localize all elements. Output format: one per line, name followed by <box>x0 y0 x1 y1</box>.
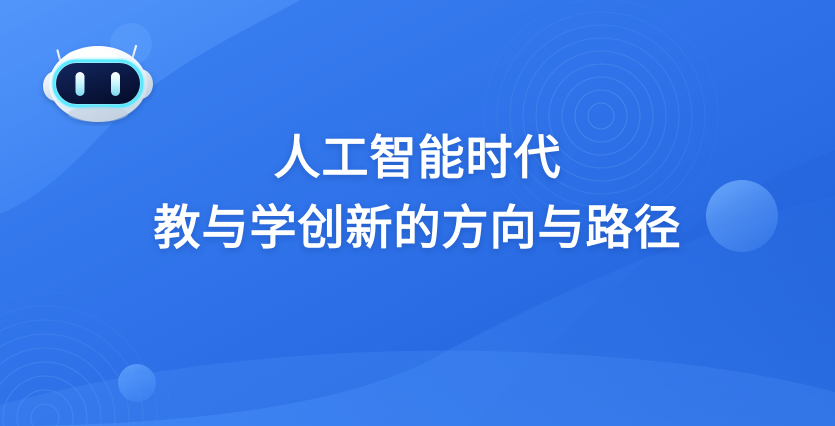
robot-eye-left <box>76 72 85 96</box>
robot-chin-shade <box>68 106 128 122</box>
robot-visor <box>56 63 140 104</box>
ai-education-banner: 人工智能时代 教与学创新的方向与路径 <box>0 0 835 426</box>
ai-robot-mascot <box>36 34 160 126</box>
robot-eye-right <box>111 72 120 96</box>
decor-circle-top-right <box>706 180 778 252</box>
decor-circle-bottom-left <box>118 364 156 402</box>
